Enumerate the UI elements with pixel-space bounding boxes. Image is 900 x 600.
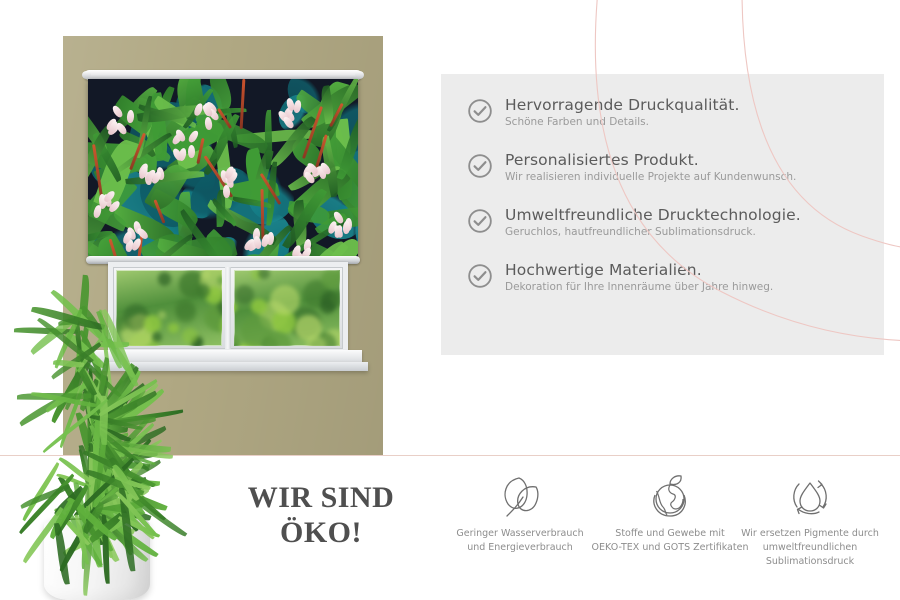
- eco-caption-line1: Stoffe und Gewebe mit: [590, 527, 750, 541]
- feature-subtitle: Dekoration für Ihre Innenräume über Jahr…: [505, 281, 773, 294]
- eco-item: Stoffe und Gewebe mit OEKO-TEX und GOTS …: [590, 470, 750, 555]
- eco-caption-line2: OEKO-TEX und GOTS Zertifikaten: [590, 541, 750, 555]
- feature-item: Personalisiertes Produkt. Wir realisiere…: [467, 151, 866, 184]
- roller-blind: [88, 70, 358, 270]
- eco-caption: Stoffe und Gewebe mit OEKO-TEX und GOTS …: [590, 527, 750, 555]
- feature-title: Hervorragende Druckqualität.: [505, 97, 739, 114]
- feature-title: Hochwertige Materialien.: [505, 262, 773, 279]
- eco-caption-line1: Wir ersetzen Pigmente durch: [730, 527, 890, 541]
- globe-leaf-icon: [645, 471, 695, 521]
- feature-text: Hochwertige Materialien. Dekoration für …: [505, 261, 773, 294]
- eco-icon-slot: [590, 470, 750, 522]
- product-banner: Hervorragende Druckqualität. Schöne Farb…: [0, 0, 900, 600]
- window-mullion: [225, 267, 231, 349]
- window-pane-right: [234, 270, 340, 346]
- features-panel: Hervorragende Druckqualität. Schöne Farb…: [441, 74, 884, 355]
- feature-subtitle: Schöne Farben und Details.: [505, 116, 739, 129]
- eco-caption-line2: und Energieverbrauch: [440, 541, 600, 555]
- eco-icon-slot: [730, 470, 890, 522]
- eco-headline-line2: ÖKO!: [216, 515, 426, 550]
- check-circle-icon: [467, 98, 493, 124]
- two-leaves-icon: [494, 471, 546, 521]
- feature-text: Hervorragende Druckqualität. Schöne Farb…: [505, 96, 739, 129]
- feature-item: Hochwertige Materialien. Dekoration für …: [467, 261, 866, 294]
- feature-item: Umweltfreundliche Drucktechnologie. Geru…: [467, 206, 866, 239]
- blind-printed-fabric: [88, 79, 358, 259]
- eco-item: Geringer Wasserverbrauch und Energieverb…: [440, 470, 600, 555]
- eco-icon-slot: [440, 470, 600, 522]
- feature-subtitle: Wir realisieren individuelle Projekte au…: [505, 171, 796, 184]
- eco-section: WIR SIND ÖKO! Geringer Wasserverbrauch u…: [0, 462, 900, 600]
- eco-caption-line3: Sublimationsdruck: [730, 555, 890, 569]
- feature-subtitle: Geruchlos, hautfreundlicher Sublimations…: [505, 226, 801, 239]
- feature-title: Umweltfreundliche Drucktechnologie.: [505, 207, 801, 224]
- check-circle-icon: [467, 263, 493, 289]
- feature-text: Umweltfreundliche Drucktechnologie. Geru…: [505, 206, 801, 239]
- feature-title: Personalisiertes Produkt.: [505, 152, 796, 169]
- check-circle-icon: [467, 208, 493, 234]
- eco-caption: Wir ersetzen Pigmente durch umweltfreund…: [730, 527, 890, 568]
- feature-item: Hervorragende Druckqualität. Schöne Farb…: [467, 96, 866, 129]
- water-drop-recycle-icon: [785, 471, 835, 521]
- check-circle-icon: [467, 153, 493, 179]
- eco-item: Wir ersetzen Pigmente durch umweltfreund…: [730, 470, 890, 568]
- eco-headline: WIR SIND ÖKO!: [216, 480, 426, 551]
- eco-caption: Geringer Wasserverbrauch und Energieverb…: [440, 527, 600, 555]
- eco-headline-line1: WIR SIND: [216, 480, 426, 515]
- eco-caption-line2: umweltfreundlichen: [730, 541, 890, 555]
- feature-text: Personalisiertes Produkt. Wir realisiere…: [505, 151, 796, 184]
- eco-caption-line1: Geringer Wasserverbrauch: [440, 527, 600, 541]
